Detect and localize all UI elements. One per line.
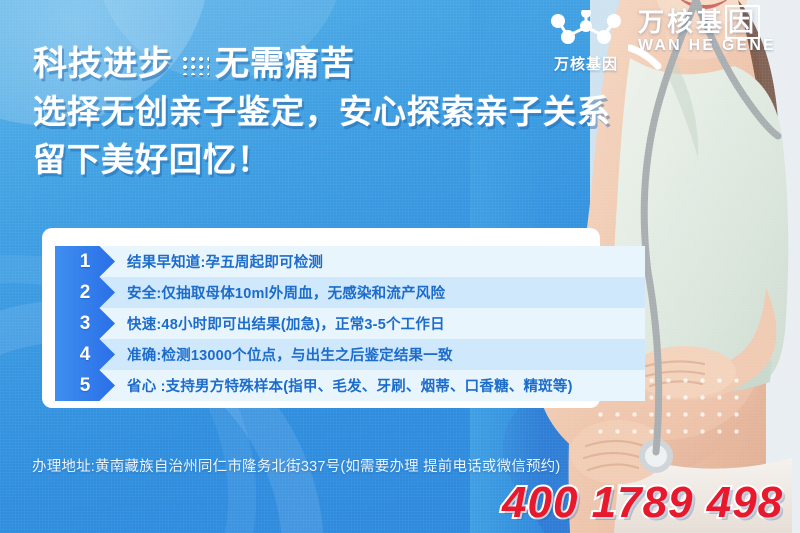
feature-row: 3 快速:48小时即可出结果(加急)，正常3-5个工作日 bbox=[55, 308, 645, 339]
headline-line-3: 留下美好回忆！ bbox=[33, 138, 673, 182]
headline-line-1-left: 科技进步 bbox=[33, 44, 173, 84]
headline-line-1-right: 无需痛苦 bbox=[215, 44, 355, 84]
logo-name-cn-boxed: 因 bbox=[725, 5, 760, 39]
headline: 科技进步 无需痛苦 选择无创亲子鉴定，安心探索亲子关系 留下美好回忆！ bbox=[33, 44, 673, 182]
logo-name-cn: 万核基因 bbox=[638, 8, 776, 36]
headline-line-2: 选择无创亲子鉴定，安心探索亲子关系 bbox=[33, 90, 673, 134]
feature-text: 省心 :支持男方特殊样本(指甲、毛发、牙刷、烟蒂、口香糖、精斑等) bbox=[115, 375, 573, 396]
feature-text: 快速:48小时即可出结果(加急)，正常3-5个工作日 bbox=[115, 313, 445, 334]
dot-grid-separator-icon bbox=[179, 53, 209, 75]
feature-text: 准确:检测13000个位点，与出生之后鉴定结果一致 bbox=[115, 344, 453, 365]
feature-row: 4 准确:检测13000个位点，与出生之后鉴定结果一致 bbox=[55, 339, 645, 370]
hotline-phone-number: 400 1789 498 bbox=[502, 478, 783, 528]
feature-row: 1 结果早知道:孕五周起即可检测 bbox=[55, 246, 645, 277]
promo-poster: 万核基因 万核基因 WAN HE GENE 科技进步 无需痛苦 选择无创亲子鉴定… bbox=[0, 0, 800, 533]
headline-line-1: 科技进步 无需痛苦 bbox=[33, 44, 673, 84]
feature-text: 安全:仅抽取母体10ml外周血，无感染和流产风险 bbox=[115, 282, 445, 303]
logo-name-cn-part1: 万核基 bbox=[638, 7, 725, 37]
feature-row: 5 省心 :支持男方特殊样本(指甲、毛发、牙刷、烟蒂、口香糖、精斑等) bbox=[55, 370, 645, 401]
feature-row: 2 安全:仅抽取母体10ml外周血，无感染和流产风险 bbox=[55, 277, 645, 308]
office-address: 办理地址:黄南藏族自治州同仁市隆务北街337号(如需要办理 提前电话或微信预约) bbox=[32, 455, 560, 476]
feature-text: 结果早知道:孕五周起即可检测 bbox=[115, 251, 323, 272]
features-list: 1 结果早知道:孕五周起即可检测 2 安全:仅抽取母体10ml外周血，无感染和流… bbox=[55, 246, 645, 401]
